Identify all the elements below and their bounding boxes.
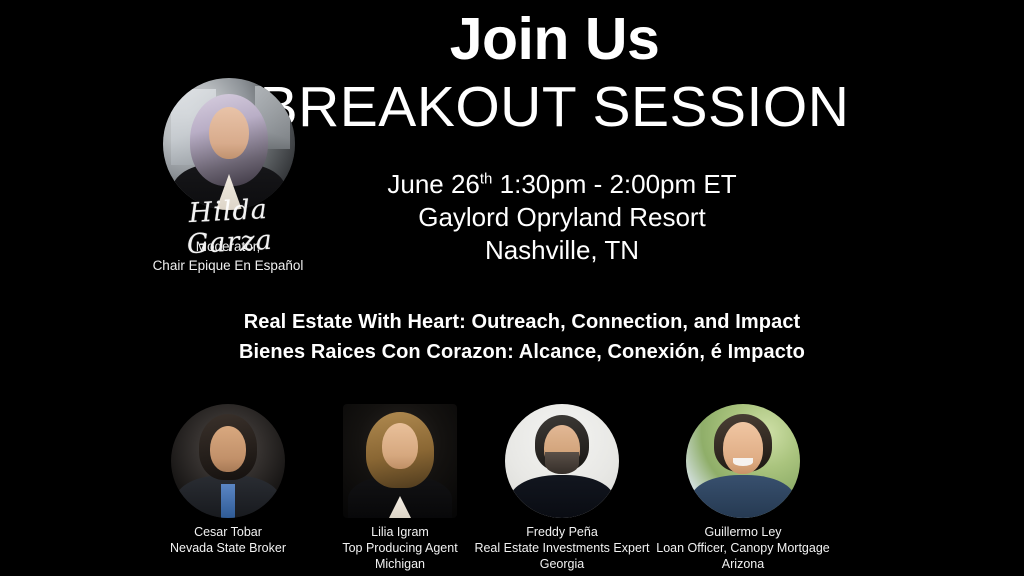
avatar-beard: [545, 452, 579, 474]
avatar-face: [382, 423, 418, 469]
speaker-card-2: Freddy Peña Real Estate Investments Expe…: [505, 404, 619, 518]
speaker-avatar-3: [686, 404, 800, 518]
event-date: June 26: [387, 169, 480, 199]
avatar-torso: [510, 475, 614, 518]
speaker-card-0: Cesar Tobar Nevada State Broker: [171, 404, 285, 518]
avatar-face: [209, 107, 249, 159]
speaker-avatar-1: [343, 404, 457, 518]
avatar-face: [210, 426, 246, 472]
page-title-join-us: Join Us: [0, 10, 1024, 69]
avatar-torso: [691, 475, 795, 518]
avatar-smile: [733, 458, 753, 466]
moderator-block: [163, 78, 295, 210]
speaker-avatar-2: [505, 404, 619, 518]
speaker-location: Arizona: [618, 556, 868, 572]
date-ordinal-suffix: th: [480, 170, 493, 187]
speaker-card-1: Lilia Igram Top Producing Agent Michigan: [343, 404, 457, 518]
session-title-block: Real Estate With Heart: Outreach, Connec…: [0, 307, 1024, 367]
avatar-necktie: [221, 484, 235, 518]
slide-canvas: Join Us BREAKOUT SESSION June 26th 1:30p…: [0, 0, 1024, 576]
speakers-row: Cesar Tobar Nevada State Broker Lilia Ig…: [0, 404, 1024, 576]
page-subtitle-breakout-session: BREAKOUT SESSION: [0, 79, 1024, 136]
moderator-role-line-1: Moderator,: [128, 238, 328, 257]
session-title-english: Real Estate With Heart: Outreach, Connec…: [20, 307, 1024, 337]
speaker-title: Loan Officer, Canopy Mortgage: [618, 540, 868, 556]
speaker-card-3: Guillermo Ley Loan Officer, Canopy Mortg…: [686, 404, 800, 518]
moderator-avatar: [163, 78, 295, 210]
moderator-caption: Moderator, Chair Epique En Español: [128, 238, 328, 275]
moderator-role-line-2: Chair Epique En Español: [128, 257, 328, 276]
avatar-face: [723, 422, 763, 474]
event-time-range: 1:30pm - 2:00pm ET: [492, 169, 736, 199]
session-title-spanish: Bienes Raices Con Corazon: Alcance, Cone…: [20, 337, 1024, 367]
speaker-name: Guillermo Ley: [618, 524, 868, 540]
speaker-caption-3: Guillermo Ley Loan Officer, Canopy Mortg…: [618, 524, 868, 572]
speaker-avatar-0: [171, 404, 285, 518]
